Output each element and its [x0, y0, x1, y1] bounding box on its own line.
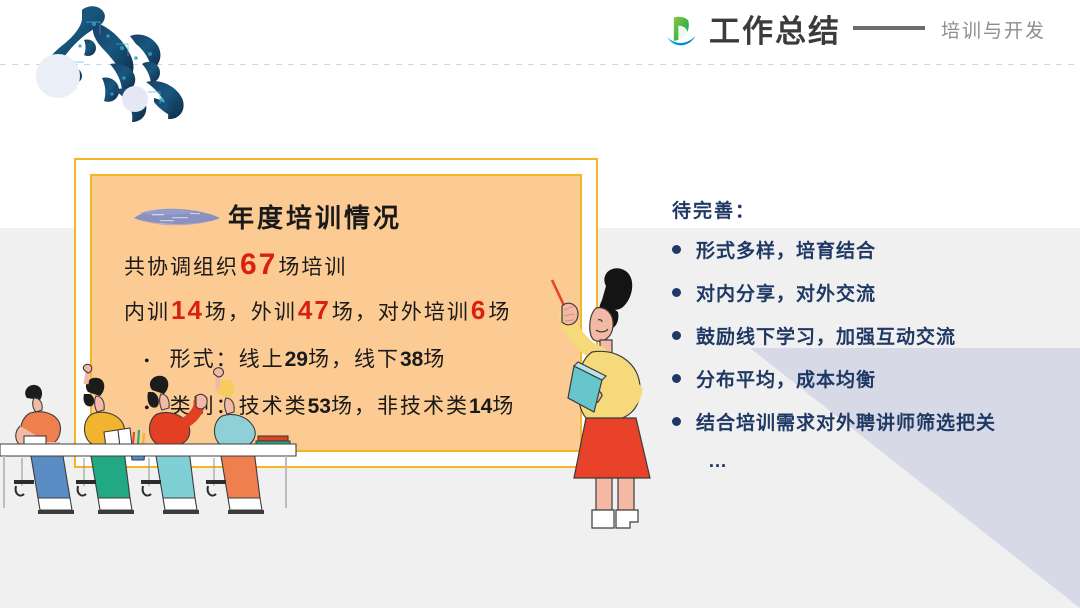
category-tail: 场 [492, 390, 515, 420]
slide-header: 工作总结 培训与开发 [663, 14, 1046, 50]
bullet-dot-icon [672, 288, 681, 297]
card-stat-total: 共协调组织67场培训 [124, 248, 562, 282]
format-mid: 场，线下 [308, 343, 400, 373]
list-item: 分布平均，成本均衡 [672, 365, 1062, 392]
bullet-dot-icon [672, 331, 681, 340]
tech-count: 53 [308, 395, 331, 419]
format-tail: 场 [423, 343, 446, 373]
list-item: 对内分享，对外交流 [672, 279, 1062, 306]
list-item-label: 形式多样，培育结合 [696, 236, 876, 263]
title-rule-divider [853, 26, 925, 30]
nontech-count: 14 [469, 395, 492, 419]
external-label: 外训 [251, 300, 297, 324]
page-subtitle: 培训与开发 [941, 14, 1046, 50]
internal-count: 14 [170, 295, 205, 325]
decorative-circle-icon [36, 54, 80, 98]
outbound-label: 对外培训 [378, 300, 470, 324]
bullet-dot-icon [672, 245, 681, 254]
external-suffix: 场， [332, 300, 378, 324]
students-at-desk-illustration [0, 358, 300, 533]
improvements-heading: 待完善： [672, 196, 1062, 223]
list-item: 形式多样，培育结合 [672, 236, 1062, 263]
format-offline-count: 38 [400, 348, 423, 372]
card-stat-total-post: 场培训 [278, 255, 347, 279]
list-item-label: 鼓励线下学习，加强互动交流 [696, 322, 956, 349]
list-item: 结合培训需求对外聘讲师筛选把关 [672, 408, 1062, 435]
list-item-label: 结合培训需求对外聘讲师筛选把关 [696, 408, 996, 435]
brush-stroke-icon [132, 204, 222, 230]
list-item: 鼓励线下学习，加强互动交流 [672, 322, 1062, 349]
internal-suffix: 场， [205, 300, 251, 324]
calligraphy-logo-icon [24, 2, 214, 132]
improvements-list: 待完善： 形式多样，培育结合 对内分享，对外交流 鼓励线下学习，加强互动交流 分… [672, 196, 1062, 473]
bullet-dot-icon [672, 417, 681, 426]
list-item-label: 分布平均，成本均衡 [696, 365, 876, 392]
bullet-dot-icon [672, 374, 681, 383]
external-count: 47 [297, 295, 332, 325]
card-stat-total-number: 67 [239, 248, 278, 281]
page-title: 工作总结 [709, 14, 841, 50]
outbound-count: 6 [470, 295, 488, 325]
card-stat-breakdown: 内训14场，外训47场，对外培训6场 [124, 295, 562, 326]
internal-label: 内训 [124, 300, 170, 324]
teacher-pointing-illustration [540, 262, 670, 532]
card-title: 年度培训情况 [228, 198, 402, 235]
outbound-suffix: 场 [488, 300, 511, 324]
decorative-circle-small-icon [122, 86, 148, 112]
category-mid: 场，非技术类 [331, 390, 469, 420]
list-ellipsis: … [708, 451, 1062, 473]
slide-root: 工作总结 培训与开发 年度培训情况 [0, 0, 1080, 608]
list-item-label: 对内分享，对外交流 [696, 279, 876, 306]
sailboat-logo-icon [663, 14, 699, 50]
card-stat-total-pre: 共协调组织 [124, 255, 239, 279]
card-title-row: 年度培训情况 [132, 198, 562, 235]
